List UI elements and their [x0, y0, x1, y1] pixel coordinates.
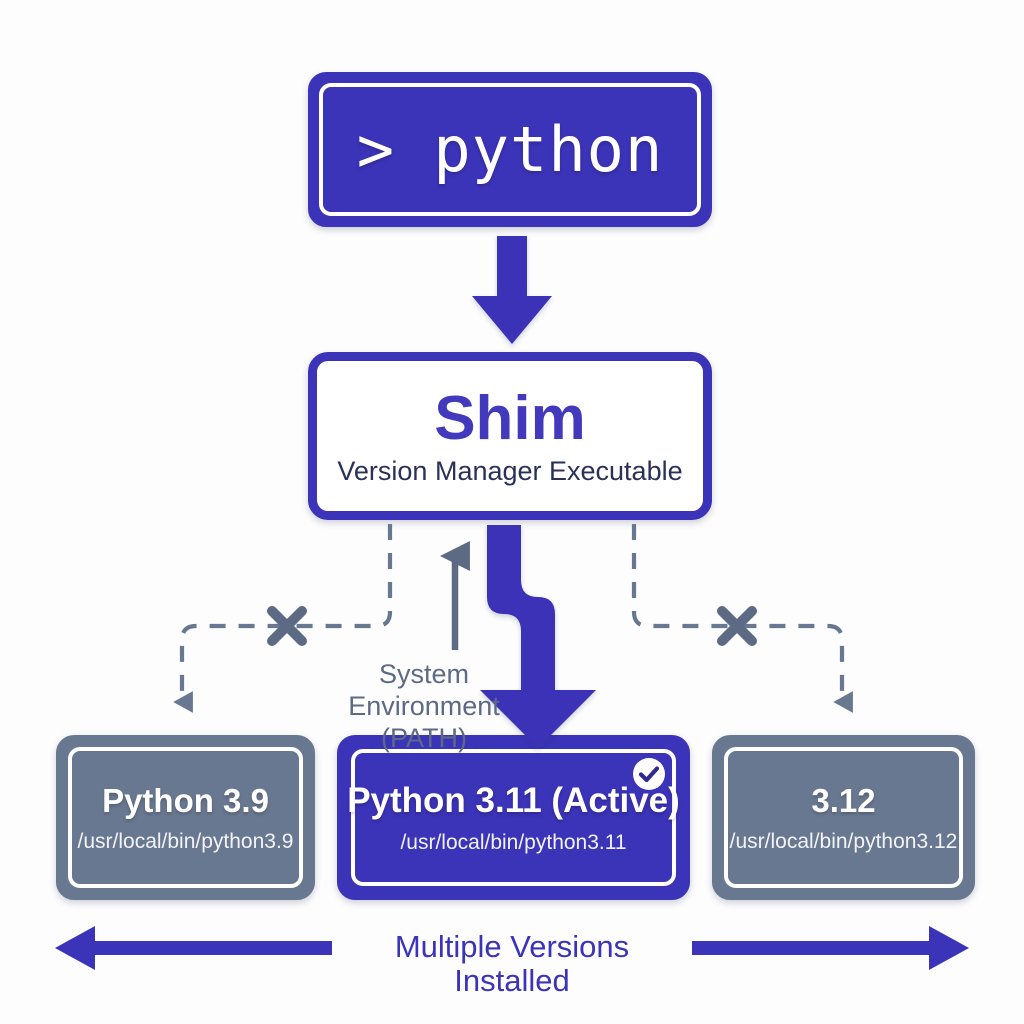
- shim-box[interactable]: Shim Version Manager Executable: [308, 352, 712, 520]
- version-path: /usr/local/bin/python3.12: [730, 831, 958, 852]
- terminal-command-text: > python: [357, 119, 664, 181]
- version-title: Python 3.9: [102, 784, 269, 817]
- version-box-python-3-9[interactable]: Python 3.9 /usr/local/bin/python3.9: [56, 735, 315, 900]
- version-box-python-3-11-active[interactable]: Python 3.11 (Active) /usr/local/bin/pyth…: [337, 735, 690, 900]
- version-path: /usr/local/bin/python3.11: [400, 832, 626, 853]
- shim-subtitle: Version Manager Executable: [337, 458, 682, 485]
- version-path: /usr/local/bin/python3.9: [78, 831, 294, 852]
- connector-shim-to-python312-blocked: [634, 524, 842, 702]
- version-title: Python 3.11 (Active): [347, 783, 680, 818]
- check-circle-icon: [631, 756, 667, 792]
- arrow-terminal-to-shim: [472, 236, 552, 344]
- system-path-label-line1: System Environment: [302, 659, 546, 723]
- x-mark-icon-right: [722, 611, 752, 641]
- system-path-label-line2: (PATH): [302, 723, 546, 755]
- version-box-python-3-12[interactable]: 3.12 /usr/local/bin/python3.12: [712, 735, 975, 900]
- version-title: 3.12: [811, 784, 875, 817]
- system-path-label: System Environment (PATH): [302, 659, 546, 755]
- diagram-canvas: > python Shim Version Manager Executable…: [0, 0, 1024, 1024]
- terminal-command-box[interactable]: > python: [308, 72, 712, 227]
- x-mark-icon-left: [272, 611, 302, 641]
- shim-title: Shim: [434, 388, 586, 450]
- multiple-versions-label: Multiple Versions Installed: [332, 928, 692, 1000]
